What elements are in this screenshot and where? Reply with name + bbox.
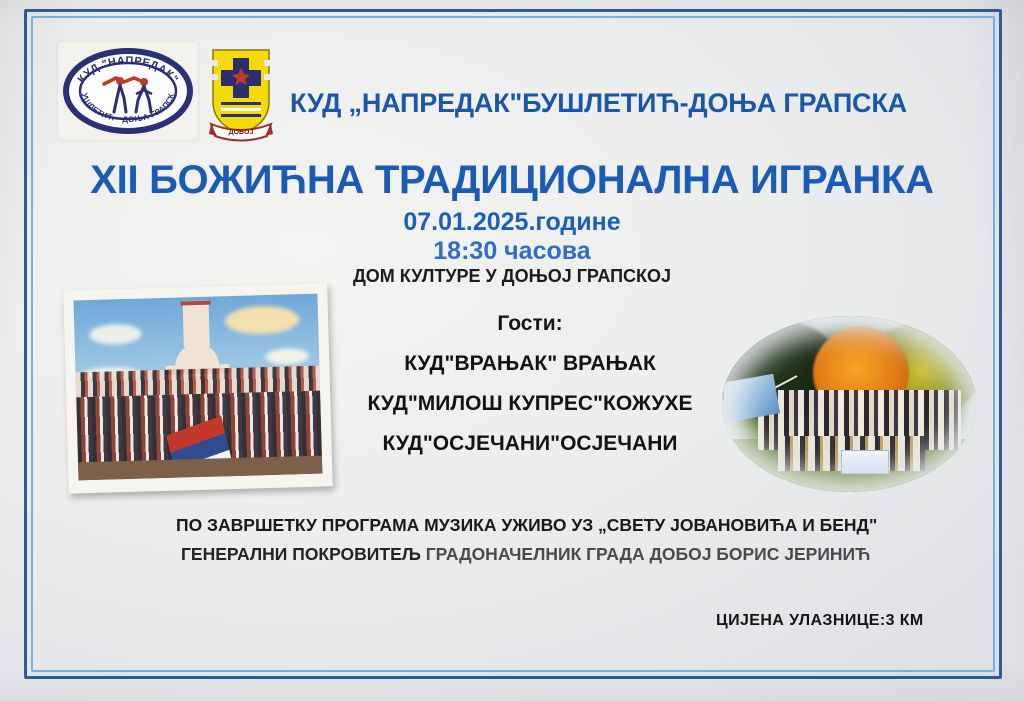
cloud-shape — [265, 348, 309, 365]
kud-napredak-logo-svg: КУД "НАПРЕДАК" БУШЛЕТИЋ · ДОЊА ГРАПСКА — [58, 42, 198, 140]
guests-label: Гости: — [340, 312, 720, 336]
kud-napredak-logo: КУД "НАПРЕДАК" БУШЛЕТИЋ · ДОЊА ГРАПСКА — [58, 42, 198, 140]
patron-note-rest: ГРАДОНАЧЕЛНИК ГРАДА ДОБОЈ БОРИС ЈЕРИНИЋ — [426, 544, 871, 564]
folk-group-autumn-photo — [722, 316, 976, 492]
guest-item: КУД"МИЛОШ КУПРЕС"КОЖУХЕ — [340, 392, 720, 416]
poster-content: КУД "НАПРЕДАК" БУШЛЕТИЋ · ДОЊА ГРАПСКА — [0, 0, 1024, 701]
folk-group-church-photo — [63, 283, 333, 493]
coat-of-arms-svg: ДОБОЈ — [205, 44, 277, 142]
event-time: 18:30 часова — [0, 237, 1024, 266]
patron-note-prefix: ГЕНЕРАЛНИ ПОКРОВИТЕЉ — [181, 544, 426, 564]
cloud-shape — [225, 305, 300, 335]
event-venue: ДОМ КУЛТУРЕ У ДОЊОЈ ГРАПСКОЈ — [0, 266, 1024, 287]
patron-note: ГЕНЕРАЛНИ ПОКРОВИТЕЉ ГРАДОНАЧЕЛНИК ГРАДА… — [181, 544, 870, 565]
guests-block: Гости: КУД"ВРАЊАК" ВРАЊАК КУД"МИЛОШ КУПР… — [340, 312, 720, 472]
ticket-price: ЦИЈЕНА УЛАЗНИЦЕ:3 КМ — [716, 612, 924, 630]
coat-of-arms-banner-text: ДОБОЈ — [229, 129, 254, 136]
poster-canvas: КУД "НАПРЕДАК" БУШЛЕТИЋ · ДОЊА ГРАПСКА — [0, 0, 1024, 701]
guest-item: КУД"ВРАЊАК" ВРАЊАК — [340, 352, 720, 376]
doboj-coat-of-arms: ДОБОЈ — [205, 44, 277, 142]
oval-vignette — [722, 316, 976, 492]
cloud-shape — [89, 324, 142, 345]
event-date: 07.01.2025.године — [0, 208, 1024, 237]
church-band — [181, 300, 211, 305]
church-photo-image — [73, 294, 322, 481]
guest-item: КУД"ОСЈЕЧАНИ"ОСЈЕЧАНИ — [340, 432, 720, 456]
organization-title: КУД „НАПРЕДАК"БУШЛЕТИЋ-ДОЊА ГРАПСКА — [290, 88, 890, 119]
church-tower — [183, 300, 210, 348]
event-title: XII БОЖИЋНА ТРАДИЦИОНАЛНА ИГРАНКА — [0, 158, 1024, 203]
live-music-note: ПО ЗАВРШЕТКУ ПРОГРАМА МУЗИКА УЖИВО УЗ „С… — [176, 515, 877, 536]
